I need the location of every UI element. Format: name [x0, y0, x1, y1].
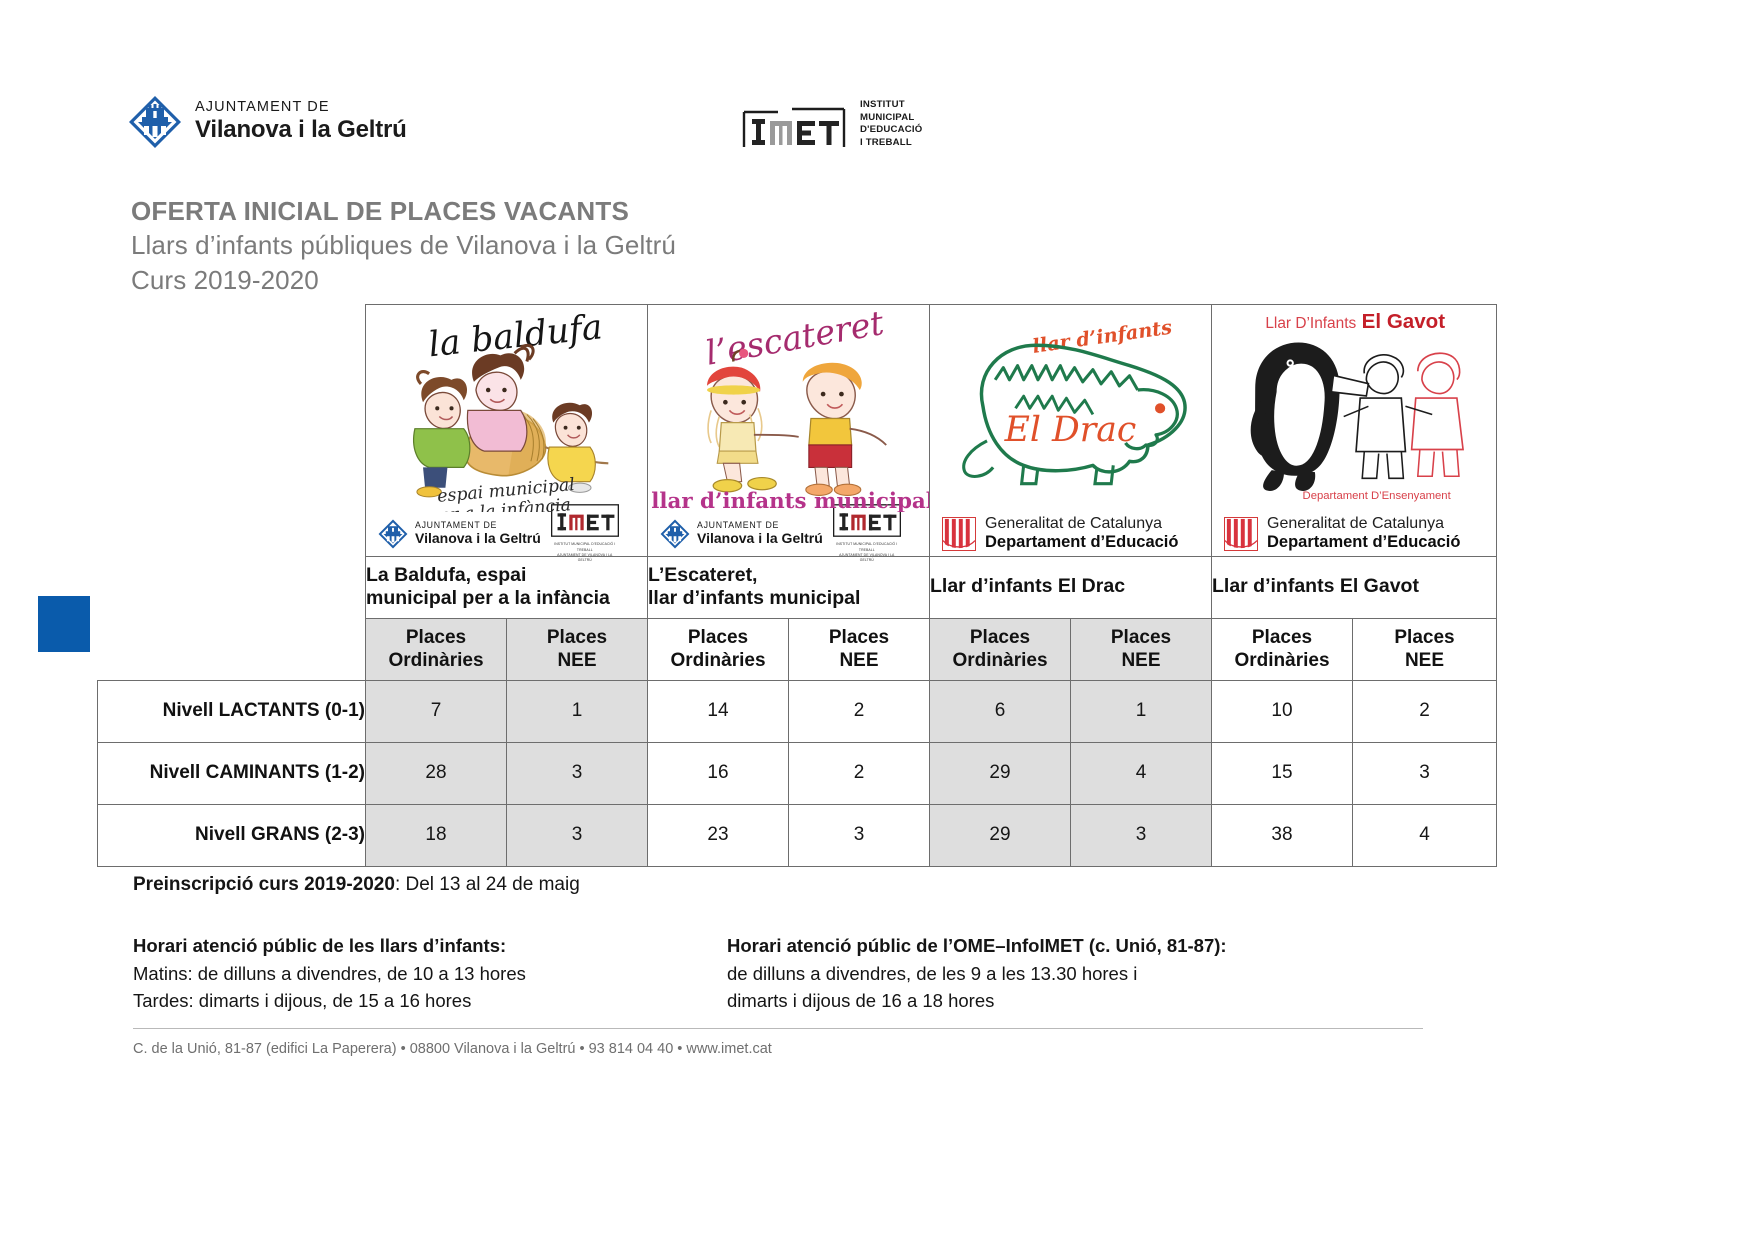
svg-text:El Gavot: El Gavot [1362, 310, 1446, 333]
column-header-places-ordinaries-3: Places Ordinàries [930, 618, 1071, 680]
el-drac-illustration: llar d’infants El D [930, 305, 1211, 512]
ajuntament-crest-icon [378, 519, 408, 549]
imet-wordmark-icon [742, 97, 846, 147]
imet-logo: INSTITUT MUNICIPAL D'EDUCACIÓ I TREBALL … [551, 504, 619, 562]
cell-caminants-escateret-nee: 2 [789, 742, 930, 804]
generalitat-line1: Generalitat de Catalunya [985, 515, 1178, 533]
table-row: Nivell LACTANTS (0-1) 7 1 14 2 6 1 10 2 [98, 680, 1497, 742]
el-gavot-illustration: Llar D’Infants El Gavot [1212, 305, 1496, 512]
row-label-lactants: Nivell LACTANTS (0-1) [98, 680, 366, 742]
ajuntament-vilanova-logo: AJUNTAMENT DE Vilanova i la Geltrú [378, 519, 541, 549]
imet-caption-line2: AJUNTAMENT DE VILANOVA I LA GELTRÚ [833, 553, 901, 563]
page-title: OFERTA INICIAL DE PLACES VACANTS Llars d… [131, 194, 676, 297]
column-header-places-nee-2: Places NEE [789, 618, 930, 680]
imet-caption-line1: INSTITUT MUNICIPAL D'EDUCACIÓ I TREBALL [833, 542, 901, 552]
subheader-line1: Places [1353, 626, 1496, 649]
schedule-llars-infants: Horari atenció públic de les llars d’inf… [133, 932, 727, 1014]
catalan-flag-shield-icon [942, 517, 976, 551]
l-escateret-illustration: l’escateret [648, 305, 929, 512]
schedule-ome-line1: de dilluns a divendres, de les 9 a les 1… [727, 960, 1227, 987]
subheader-line1: Places [507, 626, 647, 649]
svg-text:Departament D’Ensenyament: Departament D’Ensenyament [1303, 490, 1452, 502]
table-subheader-row: Places Ordinàries Places NEE Places Ordi… [98, 618, 1497, 680]
ajuntament-vilanova-logo: AJUNTAMENT DE Vilanova i la Geltrú [660, 519, 823, 549]
schedule-llars-heading: Horari atenció públic de les llars d’inf… [133, 932, 727, 959]
subheader-line1: Places [366, 626, 506, 649]
subheader-line2: NEE [507, 649, 647, 672]
imet-sub-line3: D'EDUCACIÓ [860, 124, 922, 137]
cell-lactants-drac-ordinaries: 6 [930, 680, 1071, 742]
subheader-line1: Places [1071, 626, 1211, 649]
school-name-el-gavot: Llar d’infants El Gavot [1212, 556, 1497, 618]
svg-text:Llar D’Infants: Llar D’Infants [1265, 315, 1356, 332]
subheader-row-spacer [98, 618, 366, 680]
schedule-llars-line2: Tardes: dimarts i dijous, de 15 a 16 hor… [133, 987, 727, 1014]
cell-lactants-escateret-ordinaries: 14 [648, 680, 789, 742]
ajuntament-crest-icon [660, 519, 690, 549]
cell-grans-gavot-ordinaries: 38 [1212, 804, 1353, 866]
left-edge-blue-tab [38, 596, 90, 652]
school-name-line2: llar d’infants municipal [648, 587, 929, 611]
page-title-line3: Curs 2019-2020 [131, 263, 676, 297]
schedule-ome-heading: Horari atenció públic de l’OME–InfoIMET … [727, 932, 1227, 959]
generalitat-de-catalunya-logo: Generalitat de Catalunya Departament d’E… [1224, 515, 1460, 551]
school-name-line1: L’Escateret, [648, 564, 929, 588]
school-name-line1: La Baldufa, espai [366, 564, 647, 588]
subheader-line2: Ordinàries [930, 649, 1070, 672]
preinscripcio-label: Preinscripció curs 2019-2020 [133, 874, 395, 895]
svg-text:l’escateret: l’escateret [703, 305, 888, 373]
school-logo-cell-l-escateret: l’escateret [648, 305, 930, 557]
page-title-line2: Llars d’infants públiques de Vilanova i … [131, 228, 676, 262]
imet-sub-line1: INSTITUT [860, 99, 922, 112]
generalitat-line1: Generalitat de Catalunya [1267, 515, 1460, 533]
cell-caminants-baldufa-ordinaries: 28 [366, 742, 507, 804]
cell-caminants-escateret-ordinaries: 16 [648, 742, 789, 804]
school-name-line1: Llar d’infants El Gavot [1212, 575, 1496, 599]
cell-caminants-gavot-ordinaries: 15 [1212, 742, 1353, 804]
preinscripcio-line: Preinscripció curs 2019-2020: Del 13 al … [133, 872, 1533, 898]
column-header-places-ordinaries-1: Places Ordinàries [366, 618, 507, 680]
school-logo-cell-la-baldufa: la baldufa [366, 305, 648, 557]
school-name-l-escateret: L’Escateret, llar d’infants municipal [648, 556, 930, 618]
row-label-grans: Nivell GRANS (2-3) [98, 804, 366, 866]
places-vacants-table: la baldufa [97, 304, 1497, 867]
table-row: Nivell CAMINANTS (1-2) 28 3 16 2 29 4 15… [98, 742, 1497, 804]
table-school-name-row: La Baldufa, espai municipal per a la inf… [98, 556, 1497, 618]
ajuntament-logo-line2: Vilanova i la Geltrú [195, 116, 407, 144]
svg-text:El Drac: El Drac [1004, 410, 1137, 450]
subheader-line1: Places [648, 626, 788, 649]
ajuntament-vilanova-logo: AJUNTAMENT DE Vilanova i la Geltrú [128, 95, 407, 149]
subheader-line2: Ordinàries [366, 649, 506, 672]
cell-grans-gavot-nee: 4 [1353, 804, 1497, 866]
document-header-logos: AJUNTAMENT DE Vilanova i la Geltrú [0, 95, 1755, 165]
cell-grans-baldufa-ordinaries: 18 [366, 804, 507, 866]
school-logo-cell-el-gavot: Llar D’Infants El Gavot [1212, 305, 1497, 557]
schedule-ome-line2: dimarts i dijous de 16 a 18 hores [727, 987, 1227, 1014]
ajuntament-logo-line2: Vilanova i la Geltrú [415, 531, 541, 547]
school-name-el-drac: Llar d’infants El Drac [930, 556, 1212, 618]
column-header-places-nee-3: Places NEE [1071, 618, 1212, 680]
subheader-line2: NEE [789, 649, 929, 672]
imet-sub-line2: MUNICIPAL [860, 112, 922, 125]
preinscripcio-dates: : Del 13 al 24 de maig [395, 874, 580, 895]
logo-row-spacer [98, 305, 366, 557]
generalitat-line2: Departament d’Educació [985, 533, 1178, 551]
subheader-line2: NEE [1353, 649, 1496, 672]
schedule-llars-line1: Matins: de dilluns a divendres, de 10 a … [133, 960, 727, 987]
imet-sub-line4: I TREBALL [860, 137, 922, 150]
school-name-line1: Llar d’infants El Drac [930, 575, 1211, 599]
cell-grans-escateret-ordinaries: 23 [648, 804, 789, 866]
column-header-places-nee-1: Places NEE [507, 618, 648, 680]
cell-lactants-drac-nee: 1 [1071, 680, 1212, 742]
ajuntament-logo-line2: Vilanova i la Geltrú [697, 531, 823, 547]
svg-text:llar d’infants: llar d’infants [1031, 316, 1173, 358]
imet-subtitle: INSTITUT MUNICIPAL D'EDUCACIÓ I TREBALL [860, 97, 922, 150]
school-logo-cell-el-drac: llar d’infants El D [930, 305, 1212, 557]
cell-caminants-baldufa-nee: 3 [507, 742, 648, 804]
school-name-line2: municipal per a la infància [366, 587, 647, 611]
subheader-line1: Places [789, 626, 929, 649]
ajuntament-logo-line1: AJUNTAMENT DE [195, 100, 407, 116]
column-header-places-ordinaries-2: Places Ordinàries [648, 618, 789, 680]
cell-lactants-gavot-nee: 2 [1353, 680, 1497, 742]
table-row: Nivell GRANS (2-3) 18 3 23 3 29 3 38 4 [98, 804, 1497, 866]
notes-section: Preinscripció curs 2019-2020: Del 13 al … [133, 872, 1533, 1014]
column-header-places-ordinaries-4: Places Ordinàries [1212, 618, 1353, 680]
table-logo-row: la baldufa [98, 305, 1497, 557]
la-baldufa-illustration: la baldufa [366, 305, 647, 512]
subheader-line2: Ordinàries [1212, 649, 1352, 672]
catalan-flag-shield-icon [1224, 517, 1258, 551]
cell-caminants-drac-nee: 4 [1071, 742, 1212, 804]
cell-grans-escateret-nee: 3 [789, 804, 930, 866]
imet-caption-line2: AJUNTAMENT DE VILANOVA I LA GELTRÚ [551, 553, 619, 563]
imet-caption-line1: INSTITUT MUNICIPAL D'EDUCACIÓ I TREBALL [551, 542, 619, 552]
cell-grans-drac-nee: 3 [1071, 804, 1212, 866]
footer-contact-line: C. de la Unió, 81-87 (edifici La Paperer… [133, 1028, 1423, 1057]
cell-grans-baldufa-nee: 3 [507, 804, 648, 866]
subheader-line1: Places [930, 626, 1070, 649]
school-name-la-baldufa: La Baldufa, espai municipal per a la inf… [366, 556, 648, 618]
cell-caminants-drac-ordinaries: 29 [930, 742, 1071, 804]
ajuntament-crest-icon [128, 95, 182, 149]
imet-logo: INSTITUT MUNICIPAL D'EDUCACIÓ I TREBALL … [833, 504, 901, 562]
cell-lactants-baldufa-ordinaries: 7 [366, 680, 507, 742]
generalitat-line2: Departament d’Educació [1267, 533, 1460, 551]
svg-text:llar d’infants municipal: llar d’infants municipal [651, 489, 929, 512]
subheader-line1: Places [1212, 626, 1352, 649]
cell-caminants-gavot-nee: 3 [1353, 742, 1497, 804]
cell-lactants-gavot-ordinaries: 10 [1212, 680, 1353, 742]
row-label-caminants: Nivell CAMINANTS (1-2) [98, 742, 366, 804]
name-row-spacer [98, 556, 366, 618]
page-title-line1: OFERTA INICIAL DE PLACES VACANTS [131, 194, 676, 228]
schedule-ome-infoimet: Horari atenció públic de l’OME–InfoIMET … [727, 932, 1227, 1014]
generalitat-de-catalunya-logo: Generalitat de Catalunya Departament d’E… [942, 515, 1178, 551]
cell-lactants-baldufa-nee: 1 [507, 680, 648, 742]
subheader-line2: NEE [1071, 649, 1211, 672]
cell-lactants-escateret-nee: 2 [789, 680, 930, 742]
column-header-places-nee-4: Places NEE [1353, 618, 1497, 680]
imet-logo: INSTITUT MUNICIPAL D'EDUCACIÓ I TREBALL [742, 97, 922, 150]
subheader-line2: Ordinàries [648, 649, 788, 672]
cell-grans-drac-ordinaries: 29 [930, 804, 1071, 866]
